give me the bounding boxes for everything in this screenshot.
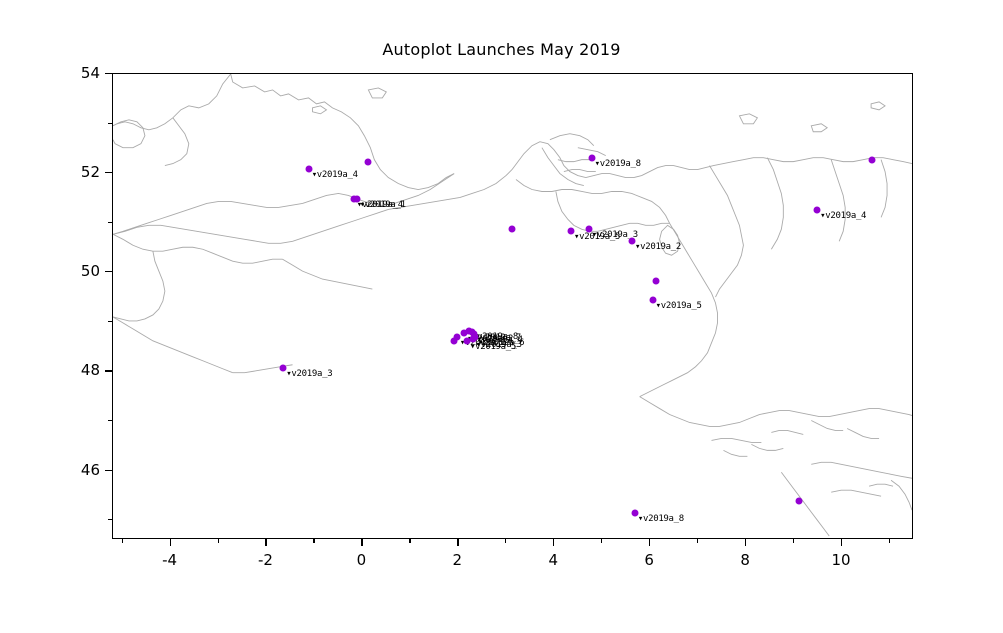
y-axis-tick-label: 48 [64, 361, 100, 379]
x-axis-tick [457, 539, 458, 546]
data-point-label: ▾v2019a_3 [286, 369, 332, 379]
x-axis-tick-label: 6 [644, 551, 654, 569]
data-point-label: ▾v2019a_4 [312, 170, 358, 180]
y-axis-tick-label: 50 [64, 262, 100, 280]
data-point-marker [509, 226, 516, 233]
data-points-layer: ▾v2019a_4▾v2019a_4▾v2019a_1▾v2019a_3▾v20… [113, 74, 912, 538]
y-axis-minor-tick [108, 519, 112, 520]
data-point-label: ▾v2019a_8 [638, 514, 684, 524]
y-axis-tick [105, 271, 112, 272]
x-axis-minor-tick [313, 539, 314, 543]
y-axis-tick-label: 46 [64, 461, 100, 479]
y-axis-tick [105, 73, 112, 74]
y-axis-tick [105, 172, 112, 173]
x-axis-tick-label: 2 [453, 551, 463, 569]
x-axis-minor-tick [122, 539, 123, 543]
y-axis-minor-tick [108, 321, 112, 322]
x-axis-tick-label: -2 [258, 551, 273, 569]
x-axis-minor-tick [697, 539, 698, 543]
x-axis-minor-tick [409, 539, 410, 543]
data-point-marker [868, 157, 875, 164]
y-axis-tick [105, 370, 112, 371]
x-axis-tick-label: 10 [832, 551, 851, 569]
page-title: Autoplot Launches May 2019 [0, 40, 1003, 59]
x-axis-tick [361, 539, 362, 546]
x-axis-minor-tick [889, 539, 890, 543]
x-axis-tick-label: 8 [740, 551, 750, 569]
y-axis-tick-label: 54 [64, 64, 100, 82]
x-axis-tick [649, 539, 650, 546]
x-axis-minor-tick [218, 539, 219, 543]
data-point-label: ▾v2019a_5 [656, 301, 702, 311]
y-axis-minor-tick [108, 420, 112, 421]
y-axis-tick [105, 470, 112, 471]
data-point-label: ▾v2019a_8 [595, 159, 641, 169]
y-axis-minor-tick [108, 123, 112, 124]
plot-axes[interactable]: ▾v2019a_4▾v2019a_4▾v2019a_1▾v2019a_3▾v20… [112, 73, 913, 539]
x-axis-tick-label: 0 [357, 551, 367, 569]
data-point-label: ▾v2019a_5 [470, 342, 516, 352]
data-point-marker [652, 278, 659, 285]
data-point-label: ▾v2019a_1 [360, 200, 406, 210]
y-axis-minor-tick [108, 222, 112, 223]
y-axis-tick-label: 52 [64, 163, 100, 181]
data-point-label: ▾v2019a_2 [635, 242, 681, 252]
data-point-marker [795, 498, 802, 505]
data-point-marker [450, 337, 457, 344]
data-point-marker [365, 159, 372, 166]
x-axis-tick [265, 539, 266, 546]
x-axis-tick [553, 539, 554, 546]
x-axis-minor-tick [601, 539, 602, 543]
x-axis-minor-tick [505, 539, 506, 543]
x-axis-tick-label: 4 [548, 551, 558, 569]
x-axis-tick [170, 539, 171, 546]
data-point-label: ▾v2019a_4 [820, 211, 866, 221]
map-figure: Autoplot Launches May 2019 [0, 0, 1003, 633]
x-axis-minor-tick [793, 539, 794, 543]
x-axis-tick [745, 539, 746, 546]
x-axis-tick-label: -4 [162, 551, 177, 569]
x-axis-tick [841, 539, 842, 546]
